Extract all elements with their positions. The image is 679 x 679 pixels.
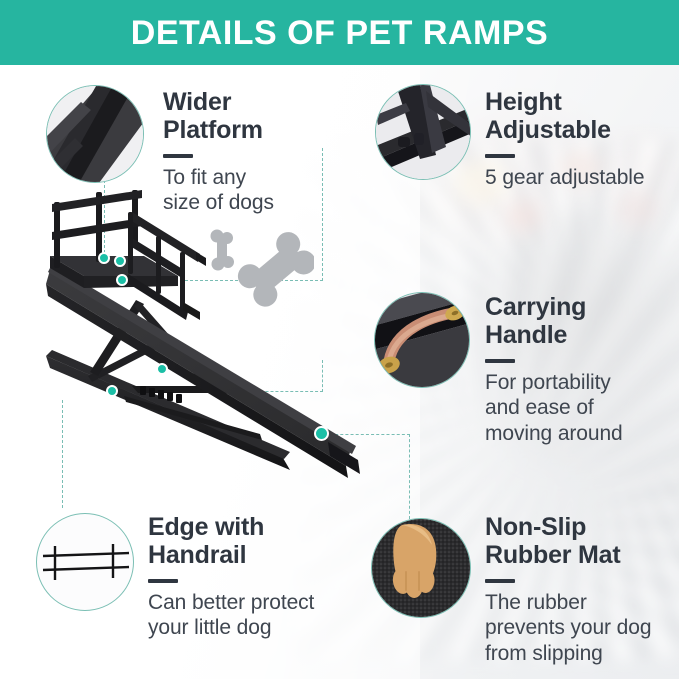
feature-body-height-adjustable: 5 gear adjustable [485, 165, 675, 191]
thumbnail-height-adjustable[interactable] [375, 84, 471, 180]
dog-paw-on-rubber-mat-image [372, 519, 471, 618]
feature-title-height-adjustable: Height Adjustable [485, 88, 675, 145]
infographic-page: DETAILS OF PET RAMPS [0, 0, 679, 679]
feature-body-carrying-handle: For portability and ease of moving aroun… [485, 370, 675, 447]
marker-dot-wider-platform [98, 252, 110, 264]
feature-title-wider-platform: Wider Platform [163, 88, 338, 145]
marker-dot-carrying-handle [106, 385, 118, 397]
marker-dot-non-slip-mat [314, 426, 329, 441]
thumbnail-carrying-handle[interactable] [374, 292, 470, 388]
handrail-line-diagram-image [37, 514, 134, 611]
marker-dot-handrail-upper [114, 255, 126, 267]
feature-block-edge-with-handrail: Edge with Handrail Can better protect yo… [148, 513, 348, 641]
ramp-platform-closeup-image [47, 86, 144, 183]
divider-wider-platform [163, 154, 193, 158]
thumbnail-edge-with-handrail[interactable] [36, 513, 134, 611]
divider-height-adjustable [485, 154, 515, 158]
divider-edge-with-handrail [148, 579, 178, 583]
connector-non-slip-vertical [409, 434, 410, 519]
feature-title-edge-with-handrail: Edge with Handrail [148, 513, 348, 570]
thumbnail-non-slip-rubber-mat[interactable] [371, 518, 471, 618]
thumbnail-wider-platform[interactable] [46, 85, 144, 183]
marker-dot-leg-joint [156, 363, 168, 375]
feature-title-non-slip-rubber-mat: Non-Slip Rubber Mat [485, 513, 679, 570]
header-banner: DETAILS OF PET RAMPS [0, 0, 679, 65]
feature-block-wider-platform: Wider Platform To fit any size of dogs [163, 88, 338, 216]
feature-block-carrying-handle: Carrying Handle For portability and ease… [485, 293, 675, 446]
feature-title-carrying-handle: Carrying Handle [485, 293, 675, 350]
page-title: DETAILS OF PET RAMPS [131, 16, 548, 50]
ramp-hinge-closeup-image [376, 85, 471, 180]
marker-dot-height-adjustable [116, 274, 128, 286]
leather-handle-closeup-image [375, 293, 470, 388]
divider-non-slip-rubber-mat [485, 579, 515, 583]
feature-body-non-slip-rubber-mat: The rubber prevents your dog from slippi… [485, 590, 679, 667]
feature-body-wider-platform: To fit any size of dogs [163, 165, 338, 216]
feature-body-edge-with-handrail: Can better protect your little dog [148, 590, 348, 641]
feature-block-non-slip-rubber-mat: Non-Slip Rubber Mat The rubber prevents … [485, 513, 679, 666]
divider-carrying-handle [485, 359, 515, 363]
feature-block-height-adjustable: Height Adjustable 5 gear adjustable [485, 88, 675, 190]
